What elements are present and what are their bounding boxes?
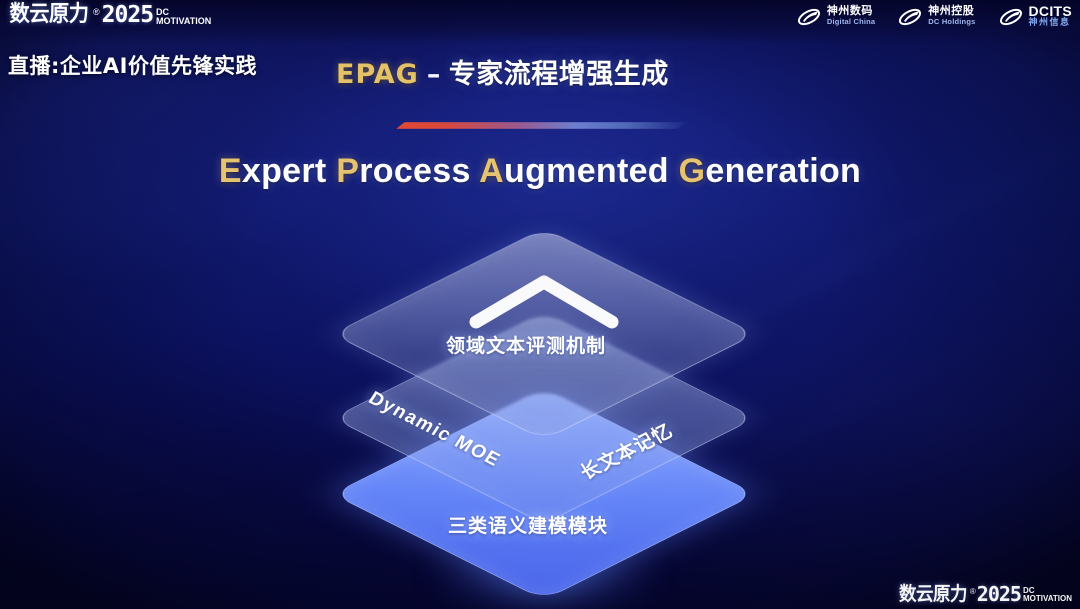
footer-logo-motivation: MOTIVATION [1023,595,1072,603]
subtitle-expanded-acronym: Expert Process Augmented Generation [0,152,1080,191]
footer-logo-registered: ® [970,587,976,596]
partner-name-cn: 神州信息 [1029,18,1073,29]
footer-logo-year: 2025 [977,584,1021,605]
partner-name-en: Digital China [827,17,875,28]
partner-name-cn: 神州控股 [928,6,975,17]
footer-logo-name: 数云原力 [899,584,967,605]
subtitle-word-process: rocess [359,152,479,190]
partner-digital-china: 神州数码 Digital China [796,5,875,29]
partner-name-cn: 神州数码 [827,6,875,17]
event-logo-year: 2025 [102,3,153,27]
swoosh-icon [897,5,923,29]
subtitle-cap-a: A [479,152,504,190]
layer-stack-diagram: Dynamic MOE 长文本记忆 三类语义建模模块 领域文本评测机制 [284,226,804,586]
title-chinese: 专家流程增强生成 [449,59,669,90]
event-logo-dc-block: DC MOTIVATION [156,8,211,25]
partner-text: 神州控股 DC Holdings [928,6,975,27]
header-bar: 数云原力 ® 2025 DC MOTIVATION 神州数码 Digital C… [0,0,1080,44]
subtitle-word-expert: xpert [242,152,336,190]
partner-logo-group: 神州数码 Digital China 神州控股 DC Holdings [796,4,1072,29]
title-acronym: EPAG [336,59,419,90]
layer-label-domain-text-eval: 领域文本评测机制 [446,331,606,358]
partner-name-en: DC Holdings [928,17,975,28]
partner-text: DCITS 神州信息 [1029,4,1073,29]
chevron-up-icon [466,270,622,332]
subtitle-cap-e: E [219,152,242,190]
partner-dcits: DCITS 神州信息 [998,4,1073,29]
swoosh-icon [998,5,1024,29]
title-dash: – [427,59,441,90]
event-logo: 数云原力 ® 2025 DC MOTIVATION [6,3,211,27]
footer-logo-dc-block: DC MOTIVATION [1023,587,1072,603]
subtitle-cap-g: G [679,152,706,190]
slide-canvas: 数云原力 ® 2025 DC MOTIVATION 神州数码 Digital C… [0,0,1080,609]
live-broadcast-label: 直播:企业AI价值先锋实践 [8,50,257,80]
partner-text: 神州数码 Digital China [827,6,875,27]
event-logo-motivation: MOTIVATION [156,17,211,26]
subtitle-word-generation: eneration [705,152,861,190]
partner-name-en: DCITS [1029,4,1073,18]
footer-watermark-logo: 数云原力 ® 2025 DC MOTIVATION [896,584,1072,605]
event-logo-name: 数云原力 [9,3,88,27]
accent-divider [396,122,686,129]
partner-dc-holdings: 神州控股 DC Holdings [897,5,975,29]
swoosh-icon [796,5,822,29]
event-logo-registered: ® [93,7,100,17]
subtitle-word-augmented: ugmented [504,152,679,190]
page-title: EPAG–专家流程增强生成 [336,52,669,91]
subtitle-cap-p: P [336,152,359,190]
background-streak [0,213,332,391]
